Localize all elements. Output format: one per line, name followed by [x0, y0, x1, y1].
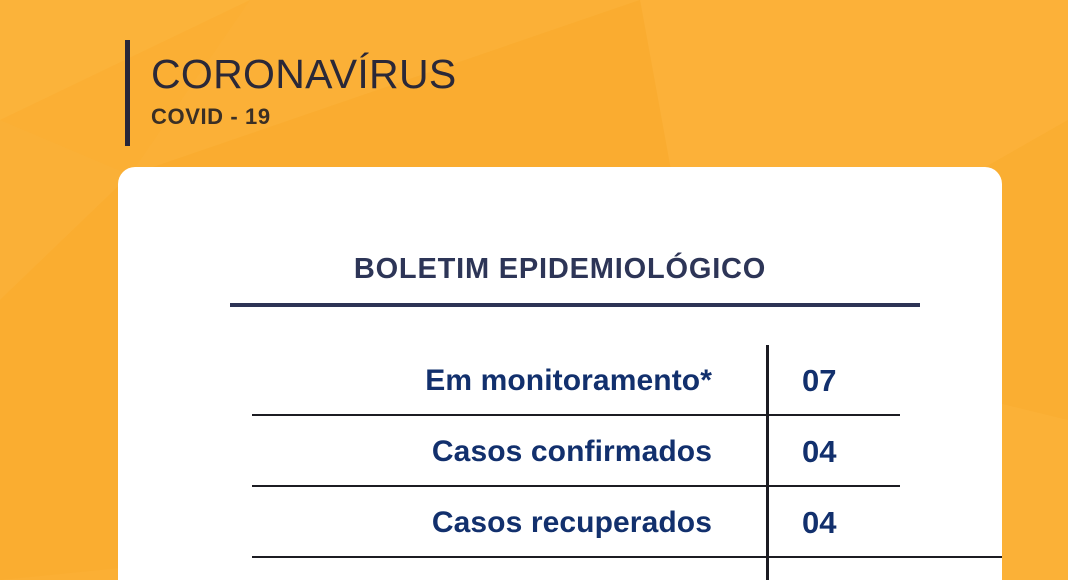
row-value: 04	[766, 434, 1002, 470]
table-row: Em monitoramento* 07	[118, 345, 1002, 416]
row-label: Em monitoramento*	[118, 364, 766, 398]
brand-subtitle: COVID - 19	[151, 106, 457, 128]
row-value: 07	[766, 363, 1002, 399]
brand-header: CORONAVÍRUS COVID - 19	[125, 40, 457, 146]
row-value: 04	[766, 505, 1002, 541]
table-row	[118, 558, 1002, 580]
coronavirus-bulletin-graphic: CORONAVÍRUS COVID - 19 BOLETIM EPIDEMIOL…	[0, 0, 1068, 580]
bulletin-card: BOLETIM EPIDEMIOLÓGICO Em monitoramento*…	[118, 167, 1002, 580]
brand-header-text: CORONAVÍRUS COVID - 19	[151, 40, 457, 146]
table-row: Casos recuperados 04	[118, 487, 1002, 558]
table-row: Casos confirmados 04	[118, 416, 1002, 487]
row-label: Casos confirmados	[118, 435, 766, 469]
row-label: Casos recuperados	[118, 506, 766, 540]
accent-bar	[125, 40, 130, 146]
bulletin-title: BOLETIM EPIDEMIOLÓGICO	[118, 253, 1002, 286]
statistics-table: Em monitoramento* 07 Casos confirmados 0…	[118, 345, 1002, 580]
brand-title: CORONAVÍRUS	[151, 54, 457, 95]
title-underline	[230, 303, 920, 307]
